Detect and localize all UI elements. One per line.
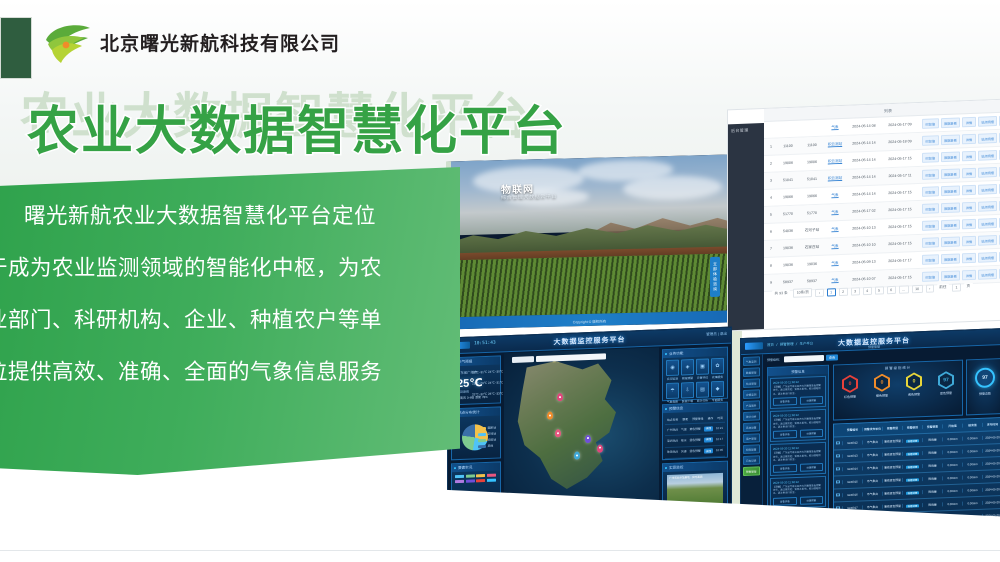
cell-level: 蓝色预警 bbox=[690, 438, 701, 443]
cell-start: 0.00mm bbox=[943, 489, 963, 494]
alert-item-actions: 查看详情处理预警 bbox=[773, 496, 823, 506]
row-actions: 时段值数据查看详情站点明细编辑删除 bbox=[922, 251, 1000, 265]
sidebar-item-站点管理[interactable]: 站点管理 bbox=[743, 378, 760, 388]
row-checkbox[interactable] bbox=[834, 467, 843, 472]
map-marker[interactable] bbox=[597, 444, 603, 452]
row-name: 51770 bbox=[800, 211, 824, 216]
iot-banner-screenshot: 物联网 综合管理大数据云平台 立即体验咨询 Copyright © 版权所有 bbox=[446, 155, 728, 330]
pie-legend: 国家站区域站农田站其他 bbox=[478, 426, 496, 449]
row-actions: 时段值数据查看详情站点明细编辑删除 bbox=[922, 183, 1000, 197]
province-select[interactable] bbox=[512, 356, 534, 363]
row-type[interactable]: 积云测站 bbox=[824, 141, 846, 147]
tool-item[interactable]: ▣灾害评估 bbox=[696, 358, 709, 379]
row-created: 2024-05-14 14 bbox=[846, 174, 882, 179]
pagination-page[interactable]: 4 bbox=[863, 286, 872, 294]
row-index: 3 bbox=[766, 178, 776, 182]
cell-unit: 市气象台 bbox=[863, 492, 883, 497]
chart-legend-swatch bbox=[466, 479, 475, 483]
alert-item-actions: 查看详情处理预警 bbox=[773, 463, 823, 473]
row-action-button[interactable]: 站点明细 bbox=[978, 133, 998, 144]
camera-panel-header: 实景监控 bbox=[663, 462, 727, 472]
cell-time: 10:21 bbox=[716, 426, 723, 431]
cell-element: 降雨量 bbox=[923, 437, 943, 442]
pagination-page[interactable]: 3 bbox=[851, 287, 860, 295]
alert-query-button[interactable]: 查询 bbox=[826, 354, 838, 360]
row-action-button[interactable]: 数据查看 bbox=[941, 134, 961, 145]
alert-items-container: 2024-05-20 11:58:12【预警】广东省气象台发布大到暴雨蓝色预警信… bbox=[768, 376, 828, 509]
sidebar-item-系统设置[interactable]: 系统设置 bbox=[743, 422, 760, 432]
row-action-button[interactable]: 站点明细 bbox=[978, 235, 998, 246]
row-action-button[interactable]: 数据查看 bbox=[941, 151, 961, 162]
row-action-button[interactable]: 详情 bbox=[962, 202, 975, 213]
row-index: 7 bbox=[766, 246, 776, 250]
row-action-button[interactable]: 数据查看 bbox=[941, 270, 961, 281]
alert-col-header: 发布时间 bbox=[983, 422, 1000, 427]
alert-level-value: 97 bbox=[940, 373, 952, 387]
tool-item[interactable]: ▤统计分析 bbox=[696, 381, 709, 402]
alert-handle-button[interactable]: 处理预警 bbox=[800, 396, 824, 405]
alert-item[interactable]: 2024-05-20 11:58:12【预警】广东省气象台发布大到暴雨蓝色预警信… bbox=[770, 476, 826, 509]
row-created: 2024-05-10 07 bbox=[846, 276, 882, 281]
row-checkbox[interactable] bbox=[834, 493, 843, 498]
alert-text: 【预警】广东省气象台发布大到暴雨蓝色预警信号，请注意防范；受降水影响，部分路段积… bbox=[773, 484, 823, 496]
row-action-button[interactable]: 数据查看 bbox=[941, 236, 961, 247]
row-action-button[interactable]: 时段值 bbox=[922, 152, 939, 163]
tools-panel: 业务功能 ◉实况监测◈预报预警▣灾害评估✿农事服务☂气象指数⇩数据下载▤统计分析… bbox=[662, 347, 728, 402]
row-name: 石河子站 bbox=[800, 227, 824, 233]
row-action-button[interactable]: 时段值 bbox=[922, 118, 939, 129]
alert-col-header: 开始值 bbox=[943, 424, 963, 429]
map-marker[interactable] bbox=[585, 435, 591, 443]
row-action-button[interactable]: 详情 bbox=[962, 134, 975, 145]
chart-legend-swatch bbox=[455, 475, 464, 479]
row-action-button[interactable]: 详情 bbox=[962, 270, 975, 281]
forecast-cell: 25℃~31℃ bbox=[472, 370, 487, 375]
chart-legend-swatch bbox=[476, 474, 485, 478]
alert-level-hexagon: 0 bbox=[906, 372, 922, 391]
alert-detail-button[interactable]: 查看详情 bbox=[773, 430, 797, 439]
row-action-button[interactable]: 站点明细 bbox=[978, 218, 998, 229]
description-line: 位提供高效、准确、全面的气象信息服务 bbox=[0, 346, 456, 398]
row-name: 19006 bbox=[800, 160, 824, 165]
alert-total-panel: 97 预警总数 bbox=[966, 358, 1000, 415]
row-name: 石家庄站 bbox=[800, 244, 824, 250]
row-checkbox[interactable] bbox=[834, 441, 843, 446]
alert-text: 【预警】广东省气象台发布大到暴雨蓝色预警信号，请注意防范；受降水影响，部分路段积… bbox=[773, 417, 823, 429]
tool-label: 农事服务 bbox=[711, 375, 724, 379]
alert-item-actions: 查看详情处理预警 bbox=[773, 429, 823, 439]
row-actions: 时段值数据查看详情站点明细编辑删除 bbox=[922, 115, 1000, 129]
cell-unit: 市气象台 bbox=[863, 466, 883, 471]
cell-element: 降雨量 bbox=[923, 476, 943, 481]
row-type[interactable]: 气象 bbox=[824, 209, 846, 215]
cell-id: GD0016 bbox=[843, 492, 863, 497]
page-title: 农业大数据智慧化平台 bbox=[27, 89, 567, 164]
row-name: 51041 bbox=[800, 177, 824, 182]
pagination-page[interactable]: 6 bbox=[887, 285, 896, 293]
mini-col-header: 时间 bbox=[717, 415, 723, 419]
alert-level-label: 黄色预警 bbox=[906, 392, 922, 397]
chart-legend bbox=[455, 473, 500, 483]
cell-start: 0.00mm bbox=[943, 463, 963, 468]
cell-unit: 市气象台 bbox=[863, 453, 883, 458]
alert-level-cell: 97蓝色预警 bbox=[938, 371, 954, 396]
alert-item[interactable]: 2024-05-20 11:58:12【预警】广东省气象台发布大到暴雨蓝色预警信… bbox=[770, 409, 826, 442]
map-border-lines bbox=[513, 358, 625, 496]
left-accent-tab bbox=[0, 17, 32, 79]
bottom-divider bbox=[0, 550, 1000, 551]
description-line: 于成为农业监测领域的智能化中枢，为农 bbox=[0, 242, 456, 294]
row-type[interactable]: 气象 bbox=[824, 260, 846, 266]
row-created: 2024-05-10 13 bbox=[846, 225, 882, 230]
row-code: 19006 bbox=[776, 161, 800, 166]
tool-item[interactable]: ⇩数据下载 bbox=[681, 382, 694, 403]
tool-icon: ◉ bbox=[666, 360, 679, 376]
row-index: 6 bbox=[766, 229, 776, 233]
row-created: 2024-05-14 14 bbox=[846, 157, 882, 162]
cell-element: 降雨量 bbox=[923, 463, 943, 468]
row-type[interactable]: 积云测站 bbox=[824, 175, 846, 181]
cell-id: GD0015 bbox=[843, 479, 863, 484]
chart-legend-swatch bbox=[487, 474, 496, 478]
alert-total-value: 97 bbox=[975, 367, 995, 388]
pagination-goto-input[interactable]: 1 bbox=[952, 283, 961, 291]
cell-end: 0.00mm bbox=[963, 501, 983, 506]
cell-start: 0.00mm bbox=[943, 476, 963, 481]
cell-name: 深圳站点 bbox=[667, 439, 678, 444]
company-logo-icon bbox=[42, 20, 94, 68]
row-actions: 时段值数据查看详情站点明细编辑删除 bbox=[922, 217, 1000, 231]
row-action-button[interactable]: 详情 bbox=[962, 236, 975, 247]
alerts-panel: 预警信息 站点名称要素预警等级操作时间广州站点气温黄色预警详情10:21深圳站点… bbox=[662, 402, 728, 461]
row-code: 11100 bbox=[776, 144, 800, 149]
cell-time: 10:05 bbox=[716, 448, 723, 453]
sidebar-item-用户管理[interactable]: 用户管理 bbox=[743, 433, 760, 443]
cell-element: 降雨量 bbox=[923, 489, 943, 494]
row-code: 19036 bbox=[776, 246, 800, 251]
alert-item[interactable]: 2024-05-20 11:58:12【预警】广东省气象台发布大到暴雨蓝色预警信… bbox=[770, 376, 826, 409]
pagination-page[interactable]: ... bbox=[899, 285, 909, 293]
alert-col-header: 预警发布单位 bbox=[863, 427, 883, 432]
row-action-button[interactable]: 数据查看 bbox=[941, 117, 961, 128]
alert-search-row[interactable]: 预警级别： 查询 bbox=[767, 354, 838, 363]
row-action-button[interactable]: 时段值 bbox=[922, 271, 939, 282]
description-line: 曙光新航农业大数据智慧化平台定位 bbox=[0, 190, 456, 242]
alert-item-actions: 查看详情处理预警 bbox=[773, 396, 823, 406]
row-action-button[interactable]: 详情 bbox=[962, 185, 975, 196]
cell-type: 暴雨蓝色预警 bbox=[883, 478, 903, 483]
row-updated: 2024-05-17 17 bbox=[882, 258, 918, 263]
row-action-button[interactable]: 站点明细 bbox=[978, 252, 998, 263]
cell-element: 风速 bbox=[681, 449, 687, 454]
row-action-button[interactable]: 数据查看 bbox=[941, 253, 961, 264]
row-actions: 时段值数据查看详情站点明细编辑删除 bbox=[922, 268, 1000, 282]
admin-table-rows: 气象2024-05-14 082024-05-17 09时段值数据查看详情站点明… bbox=[764, 113, 1000, 292]
row-name: 58937 bbox=[800, 279, 824, 284]
alert-search-label: 预警级别： bbox=[767, 358, 782, 363]
tool-item[interactable]: ◉实况监测 bbox=[666, 360, 679, 381]
row-created: 2024-05-14 14 bbox=[846, 140, 882, 145]
alert-text: 【预警】广东省气象台发布大到暴雨蓝色预警信号，请注意防范；受降水影响，部分路段积… bbox=[773, 450, 823, 462]
row-action-button[interactable]: 站点明细 bbox=[978, 116, 998, 127]
forecast-cell: 24℃~30℃ bbox=[488, 369, 503, 374]
row-type[interactable]: 气象 bbox=[824, 243, 846, 249]
cell-id: GD0014 bbox=[843, 466, 863, 471]
cell-level: 蓝色预警 bbox=[690, 449, 701, 454]
row-action-button[interactable]: 数据查看 bbox=[941, 202, 961, 213]
cell-start: 0.00mm bbox=[943, 450, 963, 455]
mini-col-header: 站点名称 bbox=[667, 417, 678, 421]
row-code: 58937 bbox=[776, 280, 800, 285]
alert-col-header: 预警编号 bbox=[843, 427, 863, 432]
row-created: 2024-05-14 14 bbox=[846, 191, 882, 196]
row-updated: 2024-05-18 09 bbox=[882, 139, 918, 144]
row-updated: 2024-05-17 09 bbox=[882, 122, 918, 127]
admin-topbar-label: 列表 bbox=[884, 108, 892, 114]
cell-end: 0.00mm bbox=[963, 488, 983, 493]
row-action-button[interactable]: 时段值 bbox=[922, 203, 939, 214]
cell-type: 暴雨蓝色预警 bbox=[883, 504, 903, 509]
row-actions: 时段值数据查看详情站点明细编辑删除 bbox=[922, 149, 1000, 163]
tool-item[interactable]: ◆专题服务 bbox=[711, 381, 724, 402]
row-checkbox[interactable] bbox=[834, 480, 843, 485]
tool-label: 实况监测 bbox=[666, 377, 679, 381]
sidebar-item-气象监测[interactable]: 气象监测 bbox=[743, 356, 760, 366]
alert-list-header: 预警信息 bbox=[768, 366, 828, 376]
chart-legend-swatch bbox=[466, 474, 475, 478]
forecast-cell: 24℃~31℃ bbox=[488, 380, 503, 385]
row-actions: 时段值数据查看详情站点明细编辑删除 bbox=[922, 200, 1000, 214]
row-action-button[interactable]: 详情 bbox=[962, 117, 975, 128]
pie-legend-item: 农田站 bbox=[478, 438, 496, 443]
row-index: 1 bbox=[766, 144, 776, 148]
cell-id: GD0013 bbox=[843, 453, 863, 458]
alerts-mini-table: 站点名称要素预警等级操作时间广州站点气温黄色预警详情10:21深圳站点降水蓝色预… bbox=[665, 413, 725, 459]
cell-level: 查看详情 bbox=[903, 477, 923, 482]
row-action-button[interactable]: 时段值 bbox=[922, 254, 939, 265]
row-updated: 2024-05-17 15 bbox=[882, 275, 918, 280]
alert-detail-button[interactable]: 查看详情 bbox=[773, 397, 797, 406]
row-created: 2024-05-17 02 bbox=[846, 208, 882, 213]
alert-level-hexagon: 97 bbox=[938, 371, 954, 390]
row-action-button[interactable]: 数据查看 bbox=[941, 185, 961, 196]
row-code: 51041 bbox=[776, 178, 800, 183]
pagination-page[interactable]: 10 bbox=[912, 284, 923, 292]
alert-col-header: 预警级别 bbox=[903, 425, 923, 430]
map-marker[interactable] bbox=[557, 393, 563, 401]
row-index: 8 bbox=[766, 263, 776, 267]
cell-element: 降雨量 bbox=[923, 450, 943, 455]
row-name: 11100 bbox=[800, 143, 824, 148]
crop-field bbox=[451, 254, 728, 318]
forecast-cell: 26℃~33℃ bbox=[488, 391, 503, 396]
row-action-button[interactable]: 时段值 bbox=[922, 169, 939, 180]
row-name: 19066 bbox=[800, 194, 824, 199]
row-action-button[interactable]: 站点明细 bbox=[978, 269, 998, 280]
row-index: 2 bbox=[766, 161, 776, 165]
row-index: 9 bbox=[766, 280, 776, 284]
row-code: 54036 bbox=[776, 229, 800, 234]
sidebar-item-日志记录[interactable]: 日志记录 bbox=[743, 455, 760, 465]
pagination-next[interactable]: › bbox=[926, 284, 934, 292]
pagination-page[interactable]: 1 bbox=[827, 288, 836, 296]
row-checkbox[interactable] bbox=[834, 454, 843, 459]
row-action-button[interactable]: 数据查看 bbox=[941, 219, 961, 230]
alert-col-header: 预警类型 bbox=[883, 426, 903, 431]
alert-level-cell: 0黄色预警 bbox=[906, 372, 922, 397]
row-updated: 2024-05-17 15 bbox=[882, 207, 918, 212]
map-marker[interactable] bbox=[574, 451, 580, 459]
cell-unit: 市气象台 bbox=[863, 479, 883, 484]
alert-item[interactable]: 2024-05-20 11:58:12【预警】广东省气象台发布大到暴雨蓝色预警信… bbox=[770, 442, 826, 475]
admin-sidebar-title: 后台管理 bbox=[731, 128, 749, 135]
row-action-button[interactable]: 站点明细 bbox=[978, 201, 998, 212]
row-index: 4 bbox=[766, 195, 776, 199]
cell-time: 2024-05-20 bbox=[983, 448, 1000, 453]
description-text: 曙光新航农业大数据智慧化平台定位 于成为农业监测领域的智能化中枢，为农 业部门、… bbox=[0, 190, 460, 470]
sidebar-item-灾情监测[interactable]: 灾情监测 bbox=[743, 389, 760, 399]
row-action-button[interactable]: 站点明细 bbox=[978, 150, 998, 161]
cell-element: 降雨量 bbox=[923, 502, 943, 507]
alert-level-value: 0 bbox=[844, 377, 856, 391]
row-updated: 2024-05-17 15 bbox=[882, 224, 918, 229]
cell-detail-button[interactable]: 详情 bbox=[704, 437, 714, 442]
alert-level-cell: 0橙色预警 bbox=[874, 373, 890, 398]
cell-type: 暴雨蓝色预警 bbox=[883, 439, 903, 444]
row-action-button[interactable]: 站点明细 bbox=[978, 167, 998, 178]
cell-start: 0.00mm bbox=[943, 502, 963, 507]
page-size-select[interactable]: 10条/页 bbox=[793, 288, 812, 298]
chart-legend-swatch bbox=[487, 479, 496, 483]
tool-item[interactable]: ☂气象指数 bbox=[666, 383, 679, 404]
row-code bbox=[776, 129, 800, 130]
row-code: 19066 bbox=[776, 195, 800, 200]
cell-end: 0.00mm bbox=[963, 449, 983, 454]
pagination-prev[interactable]: ‹ bbox=[815, 288, 823, 296]
pagination-goto-label: 前往 bbox=[937, 284, 949, 291]
tools-panel-header: 业务功能 bbox=[663, 348, 727, 358]
admin-content: 列表 气象2024-05-14 082024-05-17 09时段值数据查看详情… bbox=[764, 100, 1000, 329]
china-map[interactable] bbox=[504, 347, 659, 516]
admin-sidebar[interactable]: 后台管理 bbox=[728, 123, 764, 331]
row-action-button[interactable]: 详情 bbox=[962, 219, 975, 230]
row-action-button[interactable]: 时段值 bbox=[922, 135, 939, 146]
cell-time: 2024-05-20 bbox=[983, 500, 1000, 505]
description-line: 业部门、科研机构、企业、种植农户等单 bbox=[0, 294, 456, 346]
row-actions: 时段值数据查看详情站点明细编辑删除 bbox=[922, 166, 1000, 180]
mini-table-row[interactable]: 珠海站点风速蓝色预警详情10:05 bbox=[665, 445, 725, 458]
sidebar-item-数据管理[interactable]: 数据管理 bbox=[743, 367, 760, 377]
tool-item[interactable]: ✿农事服务 bbox=[711, 358, 724, 379]
cell-level: 查看详情 bbox=[903, 490, 923, 495]
cell-detail-button[interactable]: 详情 bbox=[704, 448, 714, 453]
tool-label: 预报预警 bbox=[681, 376, 694, 380]
pagination-page[interactable]: 2 bbox=[839, 287, 848, 295]
cell-element: 气温 bbox=[681, 427, 687, 432]
sidebar-item-权限配置[interactable]: 权限配置 bbox=[743, 444, 760, 454]
row-action-button[interactable]: 数据查看 bbox=[941, 168, 961, 179]
alert-detail-button[interactable]: 查看详情 bbox=[773, 497, 797, 506]
cell-element: 降水 bbox=[681, 438, 687, 443]
row-updated: 2024-05-17 15 bbox=[882, 156, 918, 161]
row-action-button[interactable]: 详情 bbox=[962, 253, 975, 264]
tool-icon: ✿ bbox=[711, 358, 724, 374]
camera-caption: 广州农业示范基地 · 实时画面 bbox=[669, 475, 702, 480]
cell-time: 2024-05-20 bbox=[983, 474, 1000, 479]
row-action-button[interactable]: 详情 bbox=[962, 151, 975, 162]
forecast-cell: 23℃~29℃ bbox=[472, 381, 487, 386]
alerts-panel-header: 预警信息 bbox=[663, 403, 727, 413]
row-type[interactable]: 气象 bbox=[824, 124, 846, 130]
tools-icon-grid[interactable]: ◉实况监测◈预报预警▣灾害评估✿农事服务☂气象指数⇩数据下载▤统计分析◆专题服务 bbox=[666, 358, 724, 404]
company-name: 北京曙光新航科技有限公司 bbox=[100, 29, 340, 56]
tool-icon: ▣ bbox=[696, 358, 709, 374]
row-type[interactable]: 气象 bbox=[824, 192, 846, 198]
row-name bbox=[800, 128, 824, 129]
tool-icon: ⇩ bbox=[681, 382, 694, 398]
cell-detail-button[interactable]: 详情 bbox=[704, 426, 714, 431]
tool-icon: ☂ bbox=[666, 383, 679, 399]
pagination-total: 共 93 条 bbox=[772, 290, 790, 298]
sidebar-item-统计分析[interactable]: 统计分析 bbox=[743, 411, 760, 421]
mini-col-header: 操作 bbox=[708, 416, 714, 420]
pie-legend-item: 国家站 bbox=[478, 426, 496, 431]
chart-legend-swatch bbox=[455, 480, 464, 484]
cell-level: 查看详情 bbox=[903, 451, 923, 456]
tool-icon: ▤ bbox=[696, 381, 709, 397]
alert-detail-button[interactable]: 查看详情 bbox=[773, 464, 797, 473]
alert-date-range-input[interactable] bbox=[784, 355, 824, 363]
alert-level-hexagons: 0红色预警0橙色预警0黄色预警97蓝色预警 bbox=[834, 371, 962, 400]
pagination-page[interactable]: 5 bbox=[875, 286, 884, 294]
row-action-button[interactable]: 时段值 bbox=[922, 237, 939, 248]
row-action-button[interactable]: 时段值 bbox=[922, 220, 939, 231]
cell-time: 2024-05-20 bbox=[983, 487, 1000, 492]
tool-icon: ◈ bbox=[681, 359, 694, 375]
row-name: 19036 bbox=[800, 262, 824, 267]
alert-handle-button[interactable]: 处理预警 bbox=[800, 429, 824, 438]
cell-start: 0.00mm bbox=[943, 437, 963, 442]
alert-level-value: 0 bbox=[908, 374, 920, 388]
alert-handle-button[interactable]: 处理预警 bbox=[800, 496, 824, 505]
sidebar-item-产品服务[interactable]: 产品服务 bbox=[743, 400, 760, 410]
sidebar-item-预警管理[interactable]: 预警管理 bbox=[743, 466, 760, 476]
cell-id: GD0012 bbox=[843, 440, 863, 445]
user-status[interactable]: 管理员 | 退出 bbox=[706, 332, 727, 338]
row-type[interactable]: 气象 bbox=[824, 226, 846, 232]
alert-level-cell: 0红色预警 bbox=[842, 375, 858, 400]
row-type[interactable]: 积云测站 bbox=[824, 158, 846, 164]
alert-level-hexagon: 0 bbox=[874, 373, 890, 392]
tool-item[interactable]: ◈预报预警 bbox=[681, 359, 694, 380]
alert-level-label: 蓝色预警 bbox=[938, 391, 954, 396]
cell-type: 暴雨蓝色预警 bbox=[883, 452, 903, 457]
row-action-button[interactable]: 时段值 bbox=[922, 186, 939, 197]
alert-text: 【预警】广东省气象台发布大到暴雨蓝色预警信号，请注意防范；受降水影响，部分路段积… bbox=[773, 384, 823, 396]
cell-end: 0.00mm bbox=[963, 475, 983, 480]
alert-handle-button[interactable]: 处理预警 bbox=[800, 463, 824, 472]
cell-name: 珠海站点 bbox=[667, 450, 678, 455]
pie-legend-item: 其他 bbox=[478, 444, 496, 449]
row-actions: 时段值数据查看详情站点明细编辑删除 bbox=[922, 234, 1000, 248]
row-created: 2024-05-14 08 bbox=[846, 123, 882, 128]
row-action-button[interactable]: 详情 bbox=[962, 168, 975, 179]
row-index: 5 bbox=[766, 212, 776, 216]
consult-side-tab[interactable]: 立即体验咨询 bbox=[710, 257, 720, 297]
iot-banner-subtitle: 综合管理大数据云平台 bbox=[501, 193, 557, 201]
row-action-button[interactable]: 站点明细 bbox=[978, 184, 998, 195]
row-type[interactable]: 气象 bbox=[824, 277, 846, 283]
